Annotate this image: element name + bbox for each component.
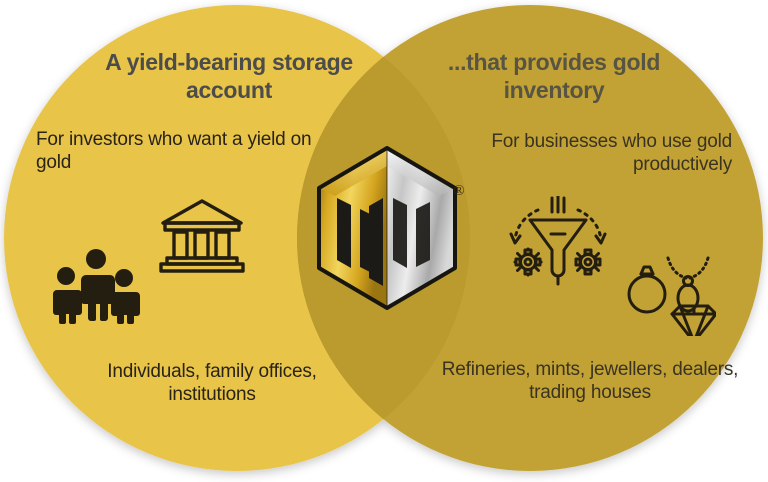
right-circle-body-text: For businesses who use gold productively [460, 130, 732, 176]
people-group-icon [52, 248, 140, 329]
right-circle-heading: ...that provides gold inventory [396, 48, 712, 104]
company-hexagon-logo [313, 146, 461, 310]
left-circle-footer-text: Individuals, family offices, institution… [62, 360, 362, 406]
bank-building-icon [156, 196, 248, 281]
left-circle-heading: A yield-bearing storage account [64, 48, 394, 104]
registered-trademark-symbol: ® [450, 182, 468, 200]
left-circle-body-text: For investors who want a yield on gold [36, 128, 326, 174]
refining-funnel-gears-icon [508, 196, 608, 299]
venn-diagram-canvas: A yield-bearing storage account For inve… [0, 0, 768, 482]
jewellery-icon [622, 244, 716, 341]
right-circle-footer-text: Refineries, mints, jewellers, dealers, t… [430, 358, 750, 404]
